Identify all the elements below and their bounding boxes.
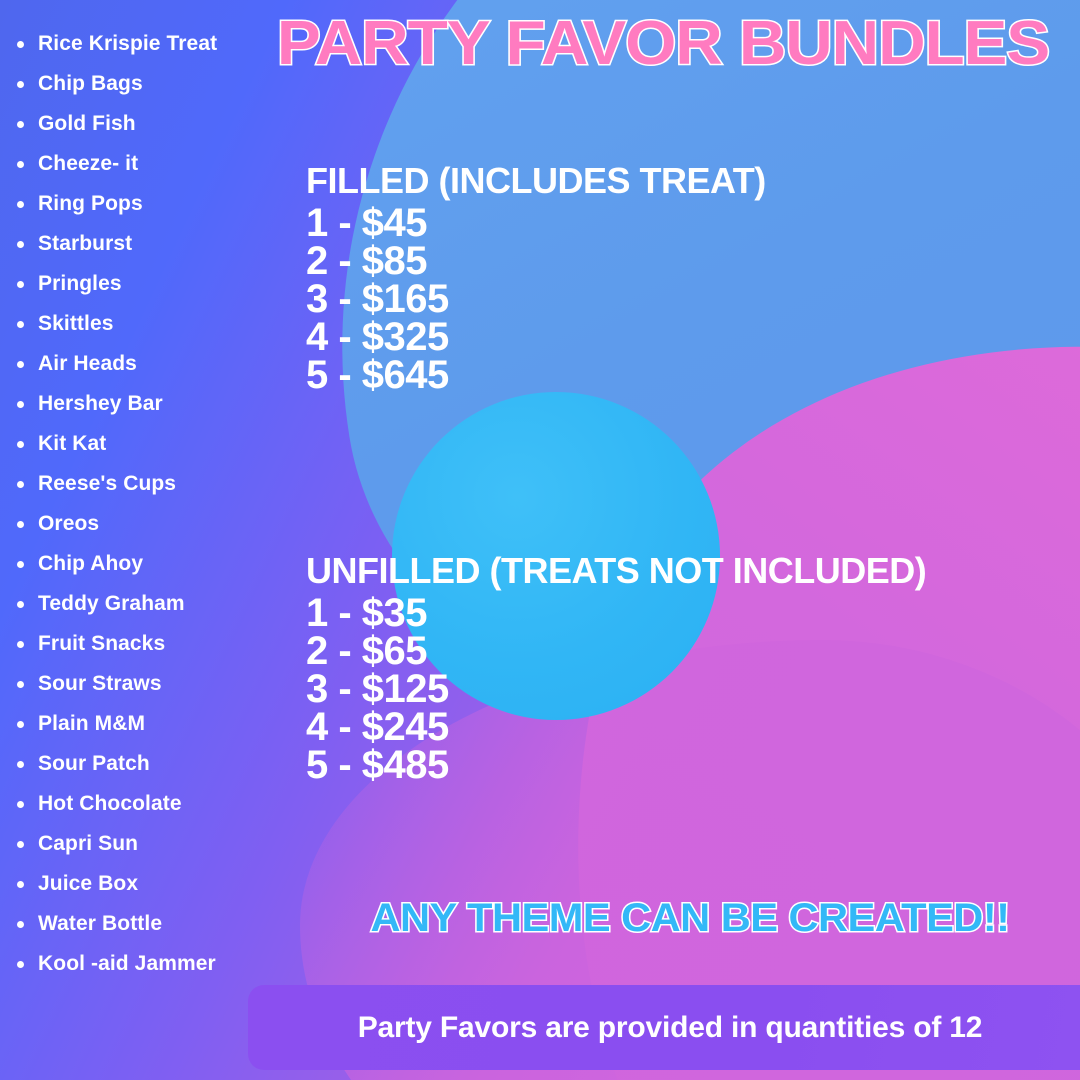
unfilled-pricing-heading: UNFILLED (TREATS NOT INCLUDED) (306, 550, 926, 592)
list-item: Starburst (0, 224, 268, 264)
price-row: 5 - $485 (306, 746, 926, 784)
list-item: Skittles (0, 304, 268, 344)
list-item: Pringles (0, 264, 268, 304)
price-row: 2 - $85 (306, 242, 766, 280)
list-item: Juice Box (0, 864, 268, 904)
list-item: Kool -aid Jammer (0, 944, 268, 984)
price-row: 2 - $65 (306, 632, 926, 670)
footer-banner: Party Favors are provided in quantities … (248, 985, 1080, 1070)
list-item: Air Heads (0, 344, 268, 384)
list-item: Chip Ahoy (0, 544, 268, 584)
list-item: Rice Krispie Treat (0, 24, 268, 64)
list-item: Chip Bags (0, 64, 268, 104)
list-item: Gold Fish (0, 104, 268, 144)
list-item: Hershey Bar (0, 384, 268, 424)
list-item: Fruit Snacks (0, 624, 268, 664)
price-row: 1 - $35 (306, 594, 926, 632)
list-item: Sour Straws (0, 664, 268, 704)
list-item: Ring Pops (0, 184, 268, 224)
list-item: Capri Sun (0, 824, 268, 864)
list-item: Plain M&M (0, 704, 268, 744)
price-row: 3 - $165 (306, 280, 766, 318)
list-item: Sour Patch (0, 744, 268, 784)
list-item: Oreos (0, 504, 268, 544)
filled-pricing-heading: FILLED (INCLUDES TREAT) (306, 160, 766, 202)
list-item: Water Bottle (0, 904, 268, 944)
snack-list: Rice Krispie Treat Chip Bags Gold Fish C… (0, 24, 268, 984)
price-row: 4 - $245 (306, 708, 926, 746)
tagline: ANY THEME CAN BE CREATED!! (326, 896, 1054, 941)
price-row: 3 - $125 (306, 670, 926, 708)
page-title: PARTY FAVOR BUNDLES (234, 8, 1080, 79)
list-item: Teddy Graham (0, 584, 268, 624)
unfilled-pricing-block: UNFILLED (TREATS NOT INCLUDED) 1 - $35 2… (306, 550, 926, 784)
list-item: Kit Kat (0, 424, 268, 464)
list-item: Hot Chocolate (0, 784, 268, 824)
list-item: Reese's Cups (0, 464, 268, 504)
list-item: Cheeze- it (0, 144, 268, 184)
price-row: 1 - $45 (306, 204, 766, 242)
filled-pricing-block: FILLED (INCLUDES TREAT) 1 - $45 2 - $85 … (306, 160, 766, 394)
price-row: 5 - $645 (306, 356, 766, 394)
price-row: 4 - $325 (306, 318, 766, 356)
footer-text: Party Favors are provided in quantities … (358, 1011, 989, 1045)
flyer-canvas: PARTY FAVOR BUNDLES Rice Krispie Treat C… (0, 0, 1080, 1080)
